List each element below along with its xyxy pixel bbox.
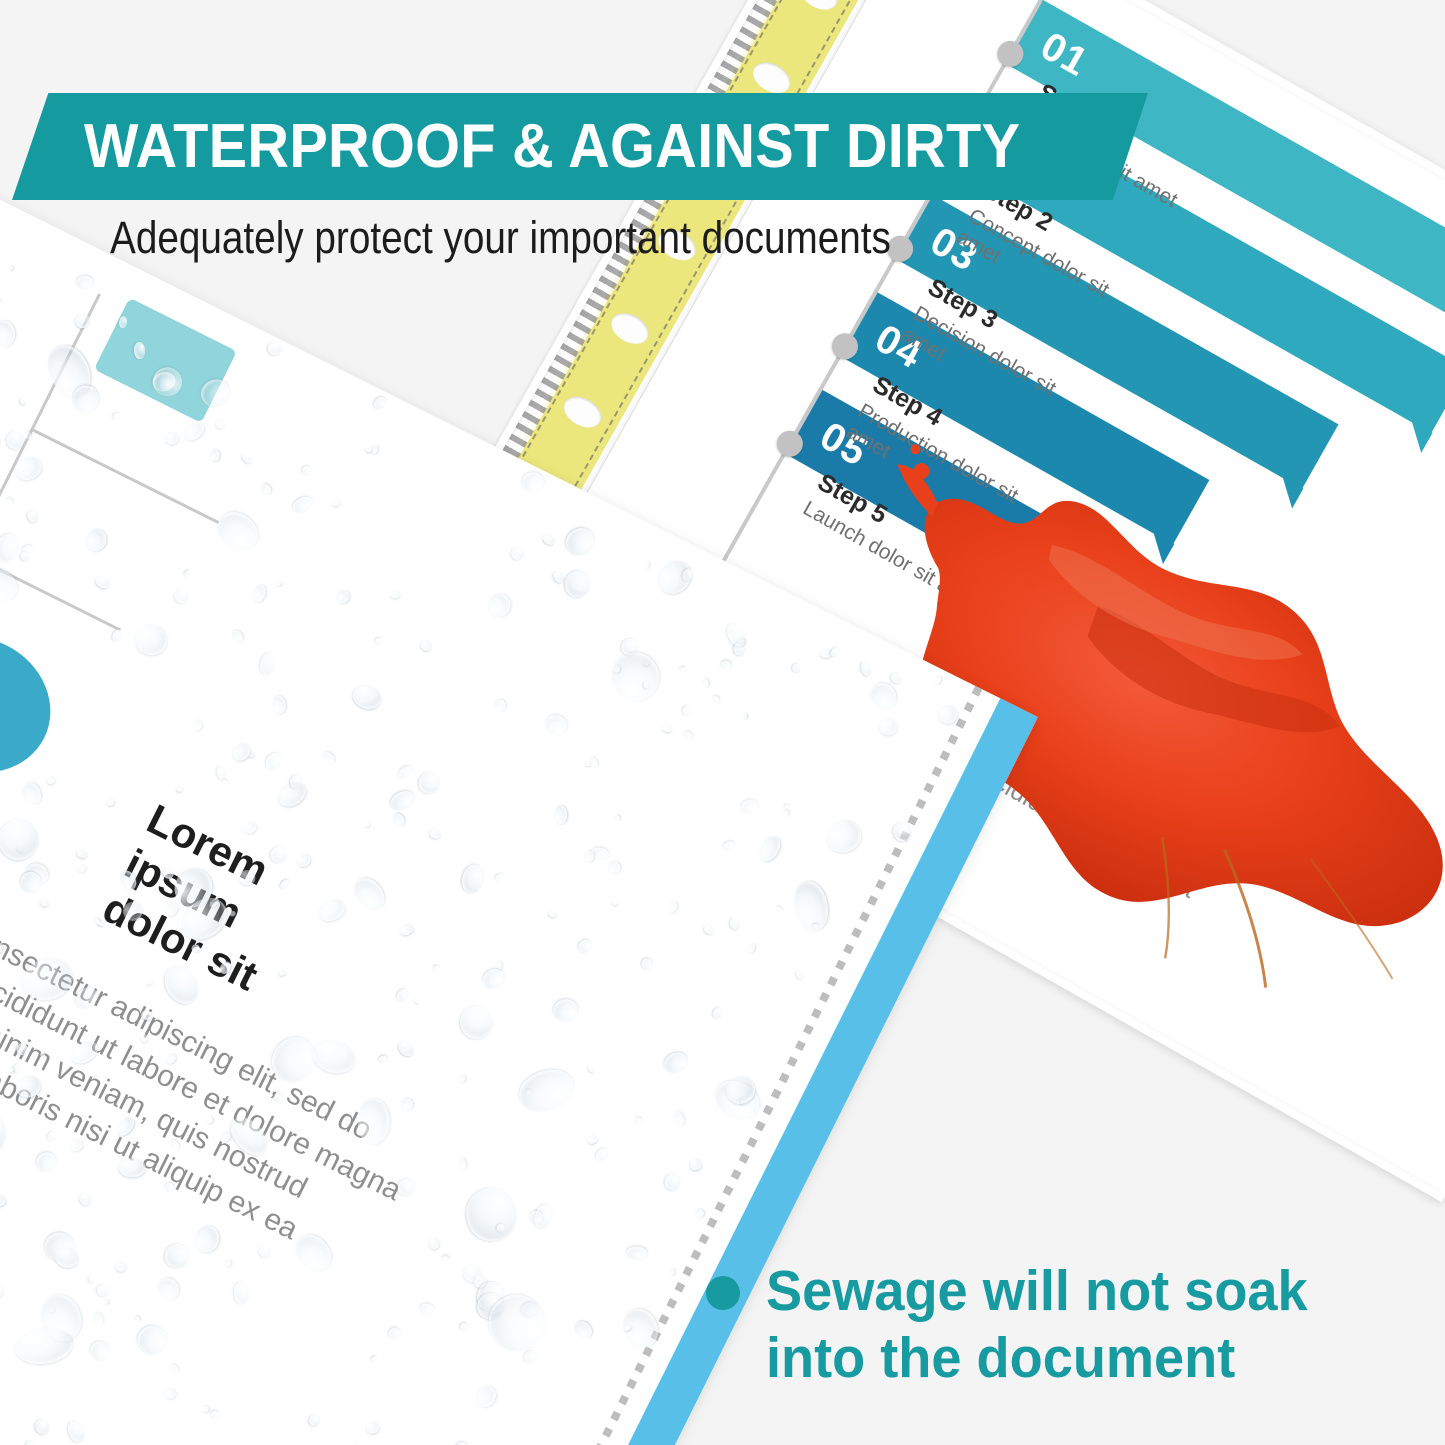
water-droplet (12, 1323, 75, 1368)
water-droplet (722, 840, 736, 851)
callout-line-2: into the document (766, 1325, 1308, 1392)
water-droplet (133, 622, 169, 657)
water-droplet (19, 550, 30, 561)
water-droplet (428, 828, 442, 842)
punch-hole (748, 56, 796, 99)
water-droplet (627, 1246, 648, 1259)
water-droplet (661, 1049, 691, 1077)
water-droplet (634, 1117, 642, 1124)
water-droplet (547, 909, 559, 920)
water-droplet (694, 1208, 704, 1218)
water-droplet (790, 878, 833, 934)
water-droplet (93, 575, 111, 591)
water-droplet (176, 787, 183, 794)
water-droplet (603, 644, 669, 710)
water-droplet (395, 1038, 417, 1059)
water-droplet (494, 960, 503, 971)
water-droplet (652, 554, 698, 601)
water-droplet (494, 872, 505, 881)
water-droplet (611, 664, 622, 675)
water-droplet (877, 716, 899, 737)
water-droplet (721, 1071, 760, 1109)
water-droplet (331, 498, 340, 506)
water-droplet (733, 642, 747, 657)
water-droplet (859, 661, 873, 678)
water-droplet (7, 265, 13, 272)
water-droplet (662, 725, 672, 733)
water-droplet (792, 663, 802, 673)
water-droplet (689, 1158, 702, 1170)
water-droplet (551, 569, 566, 585)
water-droplet (182, 420, 208, 445)
water-droplet (472, 1273, 488, 1289)
water-droplet (0, 1283, 6, 1299)
water-droplet (163, 1386, 179, 1401)
water-droplet (576, 937, 594, 955)
water-droplet (163, 1242, 191, 1269)
water-droplet (543, 712, 570, 738)
water-droplet (33, 1417, 52, 1436)
water-droplet (252, 583, 268, 603)
water-droplet (191, 718, 204, 732)
water-droplet (276, 581, 282, 587)
water-droplet (348, 872, 390, 915)
punch-hole (559, 390, 607, 433)
punch-hole (795, 0, 843, 16)
water-droplet (739, 797, 760, 815)
left-chart-line (30, 428, 219, 524)
water-droplet (624, 1324, 633, 1332)
water-droplet (391, 811, 407, 827)
water-droplet (146, 981, 152, 986)
water-droplet (17, 869, 45, 896)
water-droplet (571, 1318, 595, 1342)
water-droplet (335, 588, 351, 605)
punch-hole (606, 307, 654, 350)
water-droplet (459, 862, 486, 895)
water-droplet (756, 834, 784, 866)
water-droplet (642, 660, 649, 667)
water-droplet (84, 526, 110, 553)
water-droplet (87, 1274, 95, 1283)
water-droplet (0, 429, 3, 456)
water-droplet (585, 850, 594, 862)
water-droplet (134, 1315, 142, 1323)
water-droplet (681, 704, 692, 716)
left-heading: Lorem ipsum dolor sit (95, 794, 310, 1001)
water-droplet (115, 1261, 128, 1273)
water-droplet (46, 775, 56, 784)
water-droplet (529, 1211, 542, 1225)
water-droplet (301, 464, 314, 477)
callout-text: Sewage will not soak into the document (766, 1258, 1308, 1393)
timeline-node-4 (827, 329, 862, 364)
water-droplet (934, 674, 943, 684)
water-droplet (33, 1148, 60, 1174)
timeline-node-1 (993, 36, 1028, 71)
water-droplet (321, 749, 337, 765)
water-droplet (709, 1073, 766, 1125)
water-droplet (0, 319, 18, 348)
water-droplet (458, 1321, 470, 1333)
water-droplet (453, 1000, 499, 1046)
water-droplet (526, 1089, 532, 1095)
water-droplet (554, 805, 567, 824)
water-droplet (0, 530, 22, 566)
water-droplet (587, 1065, 596, 1074)
water-droplet (309, 1036, 359, 1078)
water-droplet (62, 1334, 74, 1346)
water-droplet (614, 814, 621, 821)
chart-dot-star (0, 612, 74, 797)
water-droplet (104, 1299, 109, 1305)
water-droplet (0, 813, 45, 867)
water-droplet (172, 588, 190, 606)
water-droplet (372, 394, 389, 411)
water-droplet (70, 383, 101, 415)
water-droplet (420, 1303, 435, 1315)
water-droplet (682, 729, 694, 741)
left-chart-line (0, 553, 121, 632)
water-droplet (316, 895, 349, 926)
water-droplet (889, 671, 903, 685)
water-droplet (522, 1348, 538, 1365)
water-droplet (452, 1439, 471, 1445)
water-droplet (373, 636, 383, 646)
water-droplet (794, 968, 806, 980)
water-droplet (25, 509, 40, 524)
water-droplet (541, 533, 556, 547)
water-droplet (532, 1202, 555, 1230)
water-droplet (593, 1146, 609, 1163)
water-droplet (783, 810, 790, 817)
water-droplet (132, 1320, 173, 1361)
water-droplet (76, 275, 94, 290)
water-droplet (720, 659, 732, 670)
water-droplet (64, 1419, 87, 1445)
timeline-node-5 (772, 426, 807, 461)
water-droplet (210, 450, 221, 462)
water-droplet (214, 418, 227, 431)
water-droplet (621, 639, 639, 657)
callout-line-1: Sewage will not soak (766, 1258, 1308, 1325)
water-droplet (748, 942, 757, 954)
water-droplet (561, 522, 600, 561)
water-droplet (820, 648, 833, 658)
water-droplet (308, 1413, 322, 1428)
water-droplet (349, 682, 384, 712)
water-droplet (551, 997, 581, 1025)
water-droplet (607, 860, 621, 874)
water-droplet (21, 543, 34, 554)
water-droplet (0, 299, 3, 306)
water-droplet (728, 916, 742, 931)
water-droplet (211, 1410, 220, 1419)
water-droplet (105, 798, 115, 807)
water-droplet (519, 1299, 541, 1321)
water-droplet (274, 777, 311, 812)
water-droplet (0, 1193, 7, 1208)
water-droplet (232, 1281, 251, 1305)
water-droplet (475, 1290, 508, 1323)
water-droplet (474, 1383, 499, 1410)
water-droplet (442, 1255, 450, 1262)
water-droplet (390, 590, 400, 598)
water-droplet (248, 751, 256, 757)
water-droplet (4, 497, 13, 506)
water-droplet (702, 679, 709, 688)
water-droplet (458, 1075, 465, 1083)
water-droplet (215, 765, 226, 780)
water-droplet (164, 431, 180, 446)
water-droplet (588, 756, 600, 769)
water-droplet (222, 780, 228, 786)
water-droplet (741, 1097, 750, 1106)
water-droplet (395, 986, 410, 1002)
water-droplet (812, 924, 819, 929)
water-droplet (211, 505, 266, 557)
water-droplet (265, 339, 284, 358)
water-droplet (20, 780, 44, 807)
water-droplet (663, 1172, 682, 1191)
water-droplet (111, 412, 121, 422)
headline-banner: WATERPROOF & AGAINST DIRTY (12, 93, 1148, 200)
water-droplet (865, 678, 901, 714)
water-droplet (488, 593, 512, 617)
water-droplet (738, 638, 745, 646)
water-droplet (200, 1404, 210, 1414)
water-droplet (76, 849, 88, 859)
water-droplet (479, 965, 508, 993)
water-droplet (366, 445, 374, 453)
water-droplet (820, 813, 867, 859)
water-droplet (278, 969, 286, 976)
water-droplet (433, 964, 440, 971)
water-droplet (398, 922, 415, 938)
water-droplet (585, 761, 591, 766)
water-droplet (829, 646, 840, 658)
water-droplet (644, 561, 649, 568)
water-droplet (183, 569, 192, 578)
water-droplet (15, 844, 25, 854)
water-droplet (370, 443, 379, 454)
water-droplet (642, 680, 651, 689)
water-droplet (460, 1263, 482, 1285)
water-droplet (21, 859, 51, 889)
water-droplet (259, 482, 273, 496)
water-droplet (76, 862, 87, 873)
water-droplet (711, 695, 720, 704)
water-droplet (18, 397, 27, 406)
water-droplet (590, 846, 610, 862)
water-droplet (96, 1283, 111, 1298)
water-droplet (742, 713, 747, 719)
water-droplet (413, 998, 420, 1005)
water-droplet (476, 1280, 507, 1313)
water-droplet (228, 740, 253, 764)
bullet-dot-icon (706, 1276, 740, 1310)
water-droplet (509, 545, 526, 562)
water-droplet (259, 652, 277, 676)
water-droplet (192, 1224, 222, 1256)
water-droplet (291, 493, 316, 515)
water-droplet (702, 923, 715, 936)
water-droplet (225, 1260, 232, 1266)
product-feature-image: 0102030405 Step 1Idea dolor sit ametStep… (0, 0, 1445, 1445)
water-droplet (679, 666, 686, 672)
water-droplet (263, 750, 285, 773)
water-droplet (478, 1285, 556, 1363)
water-droplet (496, 1223, 505, 1233)
water-droplet (386, 1325, 402, 1341)
water-droplet (672, 1111, 686, 1127)
page-subtitle: Adequately protect your important docume… (110, 212, 891, 264)
water-droplet (40, 1227, 81, 1268)
water-droplet (86, 1337, 113, 1364)
water-droplet (399, 1096, 415, 1112)
water-droplet (492, 697, 508, 714)
water-droplet (611, 901, 619, 907)
water-droplet (712, 1007, 724, 1020)
water-droplet (640, 956, 655, 971)
chart-block (94, 298, 237, 423)
water-droplet (369, 1355, 377, 1363)
water-droplet (48, 1306, 56, 1314)
water-droplet (521, 471, 546, 494)
water-droplet (668, 1268, 675, 1276)
water-droplet (257, 1243, 273, 1259)
water-droplet (667, 900, 679, 914)
water-droplet (419, 640, 432, 653)
water-droplet (681, 567, 695, 582)
water-droplet (364, 1420, 380, 1436)
water-droplet (54, 1245, 81, 1269)
water-droplet (364, 821, 371, 828)
water-droplet (25, 1440, 34, 1445)
water-droplet (723, 620, 749, 650)
water-droplet (565, 571, 590, 599)
water-droplet (514, 1062, 580, 1118)
water-droplet (783, 803, 791, 811)
water-droplet (230, 628, 245, 645)
water-droplet (169, 1363, 180, 1375)
water-droplet (40, 899, 49, 906)
feature-callout: Sewage will not soak into the document (706, 1258, 1396, 1393)
water-droplet (396, 763, 414, 780)
water-droplet (378, 1054, 389, 1064)
water-droplet (240, 452, 253, 465)
water-droplet (271, 695, 286, 714)
water-droplet (775, 906, 783, 914)
water-droplet (417, 771, 442, 795)
water-droplet (91, 1311, 106, 1327)
water-droplet (242, 819, 259, 835)
water-droplet (35, 1289, 88, 1347)
water-droplet (76, 1191, 93, 1208)
water-droplet (289, 775, 301, 789)
water-droplet (458, 1181, 523, 1248)
water-droplet (154, 1274, 183, 1304)
water-droplet (387, 787, 417, 814)
water-droplet (586, 1134, 598, 1146)
page-title: WATERPROOF & AGAINST DIRTY (84, 116, 1020, 178)
